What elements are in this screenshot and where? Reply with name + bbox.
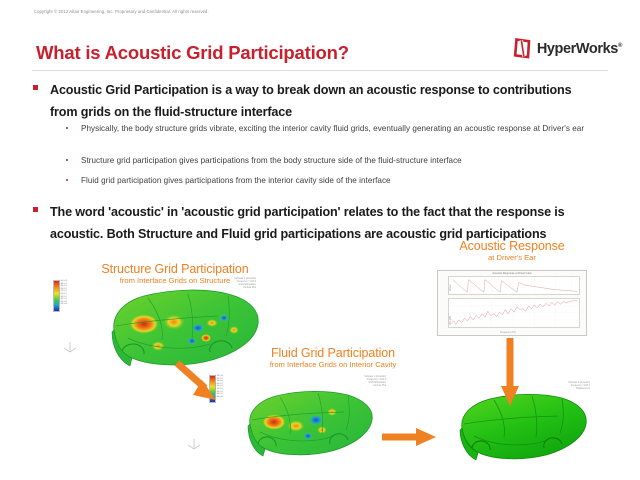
bullet-item-4: Fluid grid participation gives participa…: [66, 173, 606, 188]
title-divider: [32, 70, 608, 71]
bullet-text: Physically, the body structure grids vib…: [81, 121, 584, 136]
response-model-annotation: Subcase 1 (Acoustic)Frequency = 100.0Dis…: [530, 382, 590, 391]
plot-overview-panel: Phase: [448, 276, 580, 295]
caption-acoustic-response: Acoustic Response at Driver's Ear: [432, 239, 592, 262]
bullet-dot-icon: [66, 127, 68, 129]
bullet-item-2: Physically, the body structure grids vib…: [66, 121, 606, 136]
bullet-text: Fluid grid participation gives participa…: [81, 173, 391, 188]
arrow-fluid-to-response: [380, 424, 440, 455]
overview-y-axis-label: Phase: [450, 284, 452, 291]
bullet-text: Structure grid participation gives parti…: [81, 153, 462, 168]
fluid-model-annotation: Subcase 1 (Acoustic)Frequency = 100.0Gri…: [320, 376, 386, 388]
hyperworks-logo-mark-icon: [513, 38, 532, 59]
structure-model-annotation: Subcase 1 (Acoustic)Frequency = 100.0Gri…: [186, 278, 256, 290]
hyperworks-logo-text: HyperWorks®: [537, 41, 622, 57]
page-title: What is Acoustic Grid Participation?: [36, 42, 349, 64]
acoustic-grid-participation-diagram: Acoustic Response at Driver's Ear Struct…: [0, 236, 640, 480]
bullet-dot-icon: [66, 179, 68, 181]
acoustic-response-plot-window[interactable]: Acoustic Response at Driver's Ear Phase: [437, 270, 587, 336]
bullet-item-3: Structure grid participation gives parti…: [66, 153, 606, 168]
hyperworks-logo: HyperWorks®: [513, 38, 622, 59]
copyright-notice: Copyright © 2012 Altair Engineering, Inc…: [34, 9, 209, 14]
main-y-axis-label: SPL (dB): [450, 316, 452, 325]
structure-axis-triad-icon: [62, 339, 78, 357]
caption-main: Structure Grid Participation: [57, 262, 293, 276]
bullet-item-1: Acoustic Grid Participation is a way to …: [33, 79, 601, 123]
bullet-square-icon: [33, 85, 38, 90]
bullet-square-icon: [33, 207, 38, 212]
plot-window-title: Acoustic Response at Driver's Ear: [438, 272, 586, 275]
caption-main: Acoustic Response: [432, 239, 592, 253]
arrow-plot-to-response: [497, 336, 523, 413]
contour-legend-structure-ticks: 1.0E+008.8E-017.6E-016.4E-01 5.2E-014.0E…: [59, 280, 67, 306]
x-axis-label: Frequency (Hz): [500, 332, 516, 334]
slide-canvas: Copyright © 2012 Altair Engineering, Inc…: [0, 0, 640, 480]
caption-sub: at Driver's Ear: [432, 253, 592, 262]
plot-main-panel: SPL (dB): [448, 298, 580, 328]
brand-trademark: ®: [618, 43, 622, 49]
fluid-car-model: [232, 382, 382, 470]
bullet-text: Acoustic Grid Participation is a way to …: [50, 79, 601, 123]
bullet-dot-icon: [66, 159, 68, 161]
arrow-structure-to-fluid: [172, 358, 226, 413]
brand-name: HyperWorks: [537, 41, 618, 57]
fluid-axis-triad-icon: [186, 436, 202, 454]
